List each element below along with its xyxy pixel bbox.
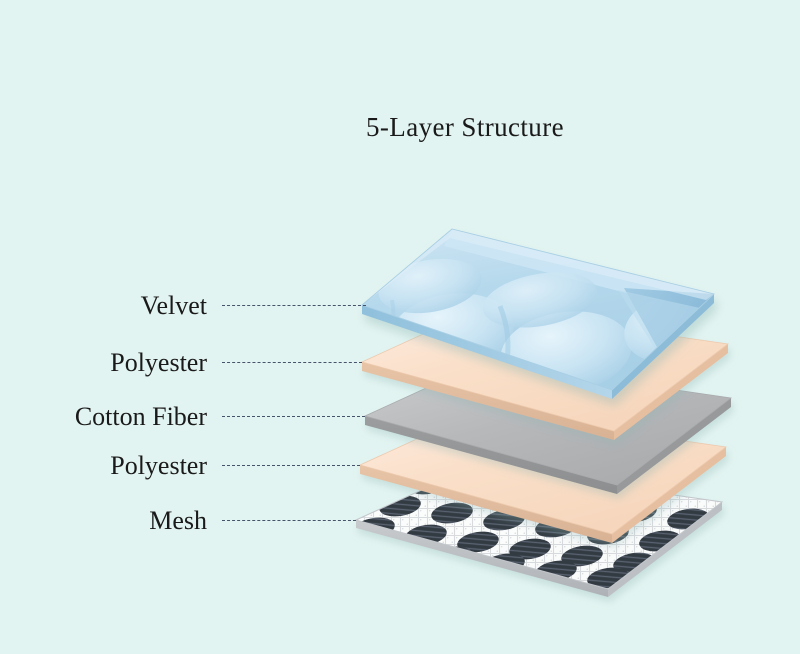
leader-line-velvet	[222, 305, 366, 306]
leader-line-polyester-2	[222, 465, 360, 466]
layer-label-mesh: Mesh	[149, 508, 207, 534]
leader-line-polyester-1	[222, 362, 362, 363]
layer-label-polyester-upper: Polyester	[110, 350, 207, 376]
leader-line-cotton-fiber	[222, 416, 365, 417]
layer-label-polyester-lower: Polyester	[110, 453, 207, 479]
page-title: 5-Layer Structure	[0, 112, 800, 143]
layer-label-cotton-fiber: Cotton Fiber	[75, 404, 207, 430]
diagram-canvas: 5-Layer Structure Velvet Polyester Cotto…	[0, 0, 800, 654]
layer-stack-illustration	[0, 0, 800, 654]
leader-line-mesh	[222, 520, 356, 521]
layer-label-velvet: Velvet	[141, 293, 207, 319]
